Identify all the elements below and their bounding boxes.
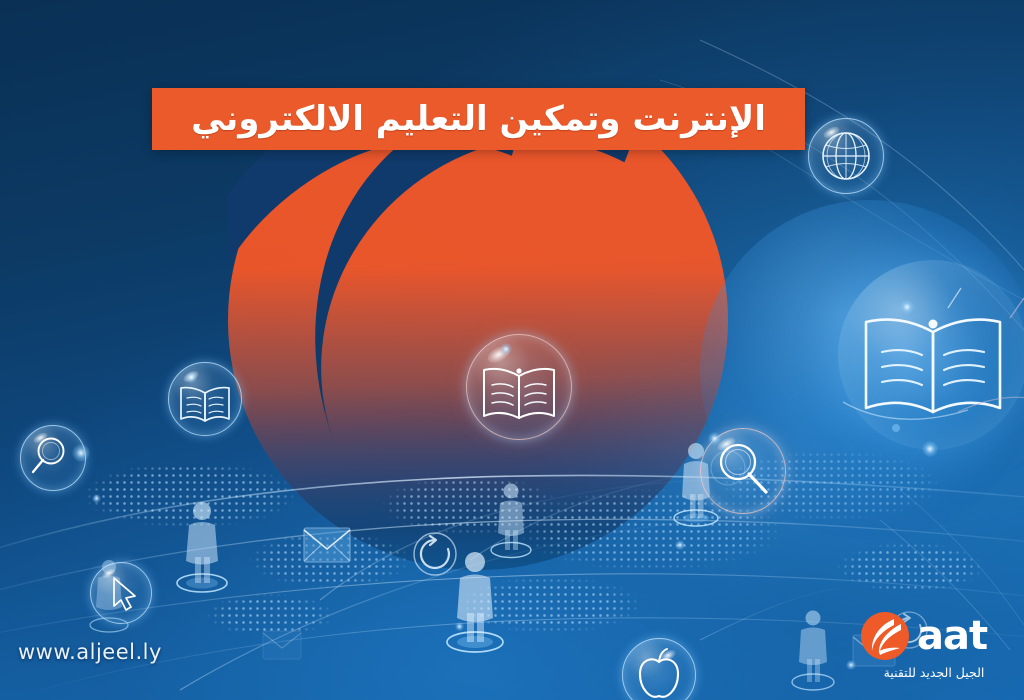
sparkle (186, 372, 197, 383)
elearning-poster: الإنترنت وتمكين التعليم الالكتروني www.a… (0, 0, 1024, 700)
cursor-icon (90, 562, 152, 624)
person-figure (489, 478, 533, 560)
logo-tagline: الجيل الجديد للتقنية (860, 665, 1008, 680)
sparkle (900, 300, 914, 314)
open-book-icon-left (168, 362, 242, 436)
refresh-icon-left (408, 527, 462, 581)
page-title: الإنترنت وتمكين التعليم الالكتروني (191, 102, 766, 136)
aat-logo[interactable]: aat الجيل الجديد للتقنية (860, 610, 1008, 688)
sparkle (455, 622, 464, 631)
refresh-icon-overlay (705, 445, 751, 491)
person-figure (790, 605, 836, 693)
envelope-icon-left (303, 527, 351, 563)
website-url[interactable]: www.aljeel.ly (18, 640, 162, 664)
sparkle (500, 343, 512, 355)
sparkle (922, 441, 938, 457)
open-book-icon-large (838, 260, 1024, 450)
open-book-icon-center (466, 334, 572, 440)
aat-swoosh-mark (860, 611, 910, 661)
sparkle (708, 432, 721, 445)
apple-icon (622, 638, 696, 700)
sparkle (675, 540, 685, 550)
sparkle (846, 660, 856, 670)
sparkle (92, 494, 101, 503)
sparkle (72, 444, 90, 462)
logo-wordmark: aat (917, 618, 987, 654)
person-figure (175, 495, 229, 595)
title-banner: الإنترنت وتمكين التعليم الالكتروني (152, 88, 805, 150)
envelope-icon-bottom (262, 630, 302, 660)
globe-grid-icon (808, 118, 884, 194)
